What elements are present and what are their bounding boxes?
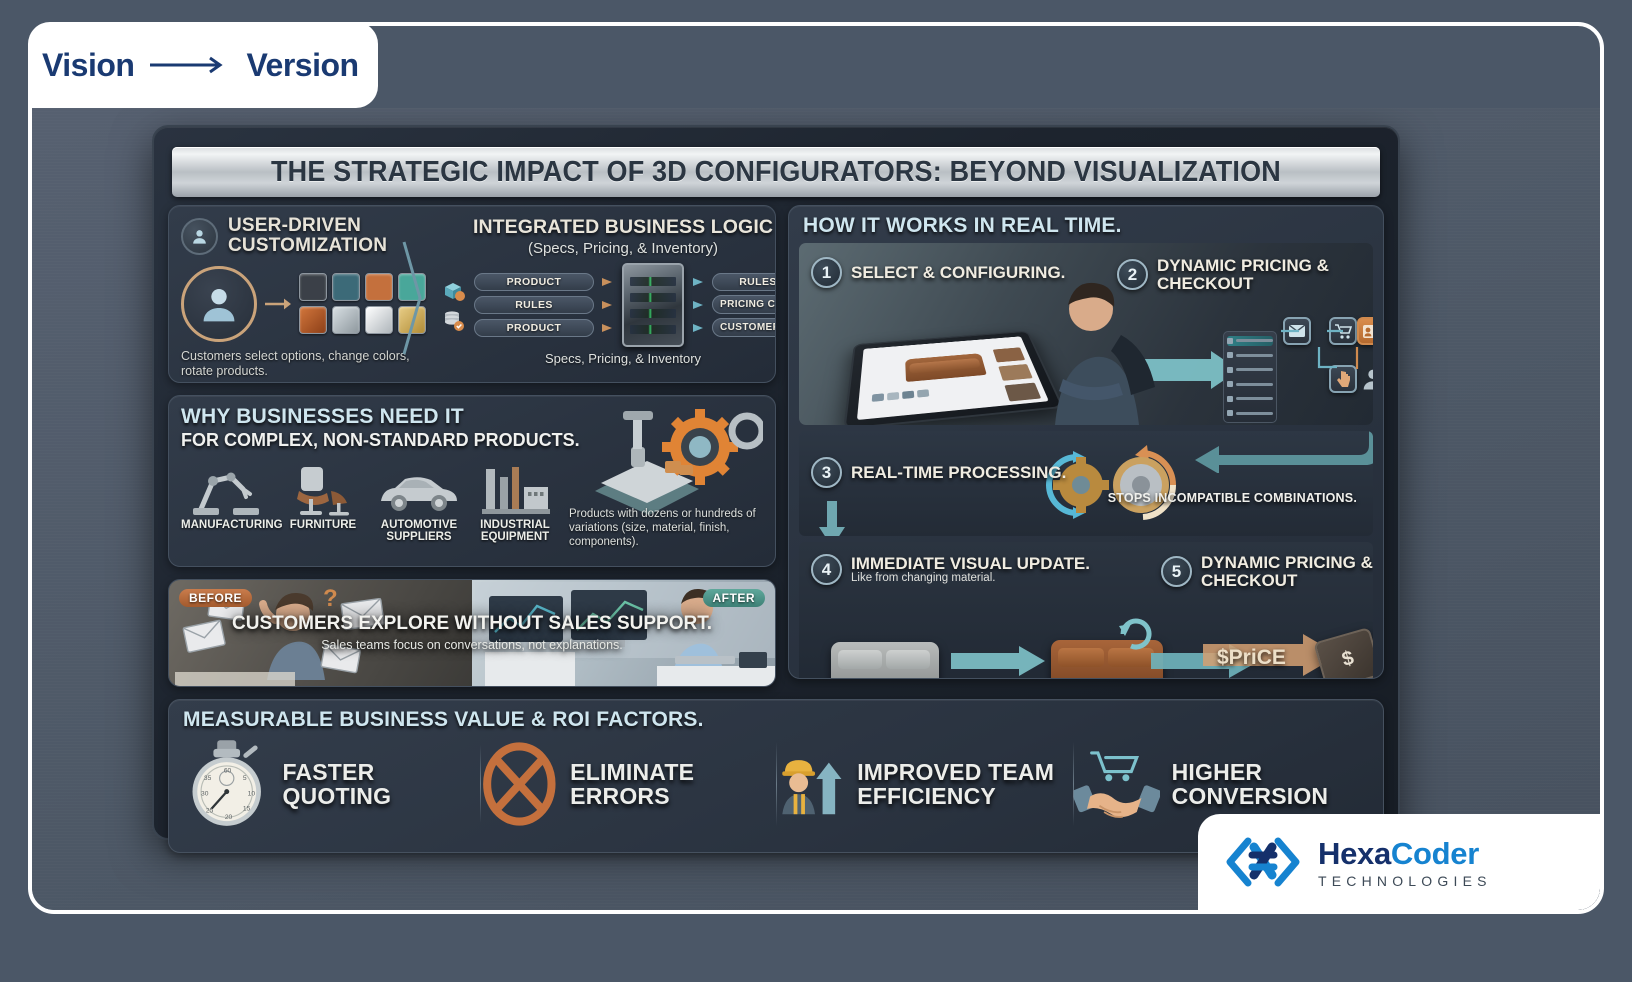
step-3-number: 3: [811, 457, 842, 488]
car-icon: [373, 455, 465, 517]
industry-manufacturing: MANUFACTURING: [181, 455, 273, 544]
sofa-preview: [905, 353, 987, 382]
step-4-text: IMMEDIATE VISUAL UPDATE. Like from chang…: [851, 555, 1090, 585]
panel-before-after: BEFORE ?: [168, 579, 776, 687]
menu-row-5: [1227, 409, 1273, 419]
industry-furniture: FURNITURE: [277, 455, 369, 544]
svg-text:15: 15: [243, 806, 251, 813]
infographic-title-plate: THE STRATEGIC IMPACT OF 3D CONFIGURATORS…: [172, 147, 1380, 197]
roi-item-team-efficiency: IMPROVED TEAM EFFICIENCY: [776, 736, 1073, 832]
svg-text:?: ?: [323, 585, 338, 612]
industry-list: MANUFACTURING: [181, 455, 561, 544]
industry-label-furniture: FURNITURE: [277, 519, 369, 531]
swatch-0[interactable]: [299, 273, 327, 301]
output-pill-customer-data: CUSTOMER DATA: [712, 318, 776, 337]
step-5-label: DYNAMIC PRICING & CHECKOUT: [1201, 554, 1373, 590]
menu-row-4: [1227, 394, 1273, 404]
update-arrow-teal-icon: [951, 646, 1047, 676]
roi-item-faster-quoting: 60510 152025 3035 FASTER QUOTING: [183, 736, 480, 832]
worker-up-arrow-icon: [776, 736, 845, 832]
tablet-swatch-3: [917, 389, 929, 397]
hexacoder-name: HexaCoder: [1318, 836, 1492, 872]
grey-sofa-icon: [831, 642, 939, 679]
flow-source-icons: [442, 280, 468, 331]
left-column: USER-DRIVEN CUSTOMIZATION: [168, 205, 776, 687]
robot-arm-icon: [181, 455, 273, 517]
input-pill-product-1: PRODUCT: [474, 273, 594, 291]
menu-row-3: [1227, 380, 1273, 390]
swatch-1[interactable]: [332, 273, 360, 301]
business-logic-caption: Specs, Pricing, & Inventory: [442, 351, 776, 366]
step-2-number: 2: [1117, 259, 1148, 290]
handshake-cart-icon: [1073, 736, 1160, 832]
tablet-screen: [857, 336, 1049, 420]
page-title: THE STRATEGIC IMPACT OF 3D CONFIGURATORS…: [271, 156, 1281, 189]
contact-card-icon: [1357, 317, 1373, 345]
user-driven-header: USER-DRIVEN CUSTOMIZATION: [181, 216, 426, 256]
roi-item-list: 60510 152025 3035 FASTER QUOTING: [183, 732, 1369, 836]
factory-icon: [469, 455, 561, 517]
user-driven-block: USER-DRIVEN CUSTOMIZATION: [181, 216, 426, 372]
tablet-swatch-1: [887, 392, 899, 400]
price-label: $PriCE: [1217, 646, 1286, 670]
side-menu-panel-icon: [1223, 331, 1277, 423]
industry-label-industrial: INDUSTRIAL EQUIPMENT: [469, 519, 561, 544]
envelope-icon: [1283, 317, 1311, 345]
why-caption: Products with dozens or hundreds of vari…: [569, 508, 763, 549]
slate-canvas: THE STRATEGIC IMPACT OF 3D CONFIGURATORS…: [32, 108, 1600, 910]
menu-row-2: [1227, 365, 1273, 375]
user-avatar-icon: [181, 218, 218, 255]
logo-coder: Coder: [1391, 836, 1479, 871]
user-driven-visual: [181, 266, 426, 342]
how-row-select-and-pricing: 1 SELECT & CONFIGURING. 2 DYNAMIC PRICIN…: [799, 243, 1373, 425]
swatch-4[interactable]: [299, 306, 327, 334]
svg-text:35: 35: [204, 775, 212, 782]
svg-text:20: 20: [225, 814, 233, 821]
step-1-label: SELECT & CONFIGURING.: [851, 264, 1065, 282]
tablet-swatch-0: [872, 393, 884, 402]
refresh-loop-icon: [1117, 612, 1153, 652]
step-4-number: 4: [811, 554, 842, 585]
price-tag-symbol: $: [1339, 646, 1356, 671]
menu-row-0: [1227, 336, 1273, 346]
before-badge: BEFORE: [179, 589, 252, 607]
before-scene: BEFORE ?: [169, 580, 472, 686]
menu-row-1: [1227, 351, 1273, 361]
stopwatch-icon: 60510 152025 3035: [183, 736, 270, 832]
hexacoder-hexagon-mark: [1224, 831, 1302, 893]
step-4-label: IMMEDIATE VISUAL UPDATE.: [851, 555, 1090, 573]
version-label: Version: [246, 47, 358, 84]
why-right-block: Products with dozens or hundreds of vari…: [569, 455, 763, 544]
industry-label-automotive: AUTOMOTIVE SUPPLIERS: [373, 519, 465, 544]
down-arrow-teal-icon: [819, 501, 845, 536]
vision-label: Vision: [42, 47, 134, 84]
input-pill-product-2: PRODUCT: [474, 319, 594, 337]
input-pill-rules: RULES: [474, 296, 594, 314]
hexacoder-logo: HexaCoder TECHNOLOGIES: [1198, 814, 1600, 910]
database-stack-icon: [442, 309, 466, 331]
step-5: 5 DYNAMIC PRICING & CHECKOUT: [1161, 554, 1373, 590]
roi-label-faster-quoting: FASTER QUOTING: [282, 760, 479, 809]
right-column: HOW IT WORKS IN REAL TIME. 1 SELECT & CO…: [788, 205, 1384, 687]
tablet-swatch-2: [902, 391, 914, 399]
output-pill-pricing-calculation: PRICING CALCULATION: [712, 295, 776, 314]
tablet-thumb-0: [993, 347, 1025, 362]
arrow-right-icon: [265, 296, 291, 312]
svg-text:60: 60: [224, 768, 232, 775]
input-arrows-icon: [600, 268, 616, 342]
why-body: MANUFACTURING: [181, 455, 763, 544]
output-pill-rules: RULES: [712, 273, 776, 291]
step-3-label: REAL-TIME PROCESSING.: [851, 464, 1066, 482]
business-logic-subtitle: (Specs, Pricing, & Inventory): [442, 240, 776, 257]
tablet-thumb-1: [998, 364, 1032, 381]
industry-industrial: INDUSTRIAL EQUIPMENT: [469, 455, 561, 544]
after-badge: AFTER: [703, 589, 766, 607]
hexacoder-tagline: TECHNOLOGIES: [1318, 873, 1492, 889]
product-box-icon: [442, 280, 466, 302]
output-arrows-icon: [690, 268, 706, 342]
roi-label-eliminate-errors: ELIMINATE ERRORS: [570, 760, 776, 809]
panel-user-driven-customization: USER-DRIVEN CUSTOMIZATION: [168, 205, 776, 383]
how-row-real-time-processing: 3 REAL-TIME PROCESSING.: [799, 431, 1373, 536]
step-3: 3 REAL-TIME PROCESSING.: [811, 457, 1066, 488]
business-logic-inputs: PRODUCT RULES PRODUCT: [474, 273, 594, 337]
industry-automotive: AUTOMOTIVE SUPPLIERS: [373, 455, 465, 544]
svg-text:5: 5: [243, 775, 247, 782]
grey-sofa-body: [831, 642, 939, 679]
step-4: 4 IMMEDIATE VISUAL UPDATE. Like from cha…: [811, 554, 1090, 585]
roi-label-higher-conversion: HIGHER CONVERSION: [1172, 760, 1369, 809]
office-chair-icon: [277, 455, 369, 517]
industry-label-manufacturing: MANUFACTURING: [181, 519, 273, 531]
user-driven-title: USER-DRIVEN CUSTOMIZATION: [228, 216, 426, 256]
user-driven-caption: Customers select options, change colors,…: [181, 349, 426, 380]
tablet-configurator-icon: [843, 331, 1064, 425]
roi-heading: MEASURABLE BUSINESS VALUE & ROI FACTORS.: [183, 708, 1369, 732]
svg-text:10: 10: [248, 790, 256, 797]
swatch-5[interactable]: [332, 306, 360, 334]
cnc-machine-gear-icon: [567, 403, 763, 520]
stops-incompatible-note: STOPS INCOMPATIBLE COMBINATIONS.: [1108, 491, 1357, 505]
step-4-sub: Like from changing material.: [851, 572, 1090, 584]
long-right-arrow-icon: [148, 56, 232, 74]
how-it-works-heading: HOW IT WORKS IN REAL TIME.: [803, 214, 1373, 238]
infographic-board: THE STRATEGIC IMPACT OF 3D CONFIGURATORS…: [152, 125, 1400, 840]
panel-how-it-works: HOW IT WORKS IN REAL TIME. 1 SELECT & CO…: [788, 205, 1384, 679]
server-rack-icon: [622, 263, 684, 347]
step-1: 1 SELECT & CONFIGURING.: [811, 257, 1065, 288]
panel-why-businesses-need-it: WHY BUSINESSES NEED IT FOR COMPLEX, NON-…: [168, 395, 776, 567]
business-logic-flow: PRODUCT RULES PRODUCT: [442, 263, 776, 347]
touch-pointer-icon: [1329, 365, 1357, 393]
business-logic-block: INTEGRATED BUSINESS LOGIC (Specs, Pricin…: [426, 216, 776, 372]
svg-text:30: 30: [201, 790, 209, 797]
vision-version-tab[interactable]: Vision Version: [28, 22, 378, 108]
business-logic-outputs: RULES PRICING CALCULATION CUSTOMER DATA: [712, 273, 776, 337]
business-logic-title: INTEGRATED BUSINESS LOGIC: [442, 216, 776, 239]
swatch-2[interactable]: [365, 273, 393, 301]
logo-hexa: Hexa: [1318, 836, 1391, 871]
step-5-number: 5: [1161, 556, 1192, 587]
step-2-label: DYNAMIC PRICING & CHECKOUT: [1157, 257, 1373, 293]
roi-item-eliminate-errors: ELIMINATE ERRORS: [480, 739, 777, 829]
step-1-number: 1: [811, 257, 842, 288]
after-scene: AFTER: [472, 580, 775, 686]
feedback-arrow-teal-icon: [1123, 431, 1373, 473]
no-entry-cross-icon: [480, 739, 559, 829]
hexacoder-wordmark: HexaCoder TECHNOLOGIES: [1318, 836, 1492, 889]
step-2: 2 DYNAMIC PRICING & CHECKOUT: [1117, 257, 1373, 293]
seated-person-icon: [1035, 275, 1167, 425]
swatch-6[interactable]: [365, 306, 393, 334]
chevron-right-icon: [400, 224, 426, 374]
customer-avatar-icon: [181, 266, 257, 342]
shopping-cart-icon: [1329, 317, 1357, 345]
user-silhouette-icon: [1359, 365, 1373, 398]
content-columns: USER-DRIVEN CUSTOMIZATION: [168, 205, 1384, 687]
roi-label-team-efficiency: IMPROVED TEAM EFFICIENCY: [857, 760, 1072, 809]
how-row-visual-update-and-pricing: 4 IMMEDIATE VISUAL UPDATE. Like from cha…: [799, 542, 1373, 679]
